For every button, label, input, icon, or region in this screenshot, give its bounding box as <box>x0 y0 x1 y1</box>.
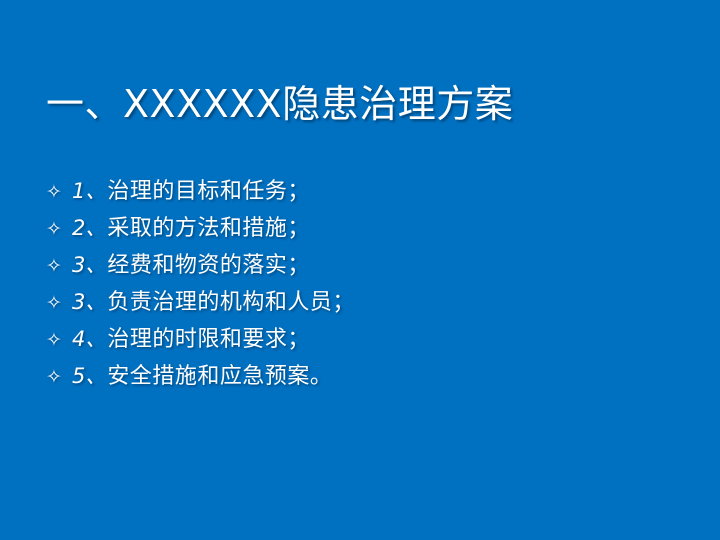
list-item-number: 5、 <box>72 358 107 395</box>
diamond-star-icon: ✧ <box>46 174 72 211</box>
list-item: ✧ 3、 负责治理的机构和人员； <box>46 283 686 320</box>
list-item: ✧ 2、 采取的方法和措施； <box>46 209 686 246</box>
diamond-star-icon: ✧ <box>46 359 72 396</box>
diamond-star-icon: ✧ <box>46 248 72 285</box>
list-item-label: 治理的目标和任务； <box>107 172 310 209</box>
list-item-label: 经费和物资的落实； <box>107 246 310 283</box>
slide-title: 一、XXXXXX隐患治理方案 <box>46 83 686 127</box>
diamond-star-icon: ✧ <box>46 211 72 248</box>
list-item-label: 采取的方法和措施； <box>107 209 310 246</box>
list-item-number: 3、 <box>72 247 107 284</box>
list-item: ✧ 1、 治理的目标和任务； <box>46 172 686 209</box>
bullet-list: ✧ 1、 治理的目标和任务； ✧ 2、 采取的方法和措施； ✧ 3、 经费和物资… <box>46 172 686 394</box>
list-item-number: 3、 <box>72 284 107 321</box>
list-item-label: 安全措施和应急预案。 <box>107 357 332 394</box>
list-item: ✧ 3、 经费和物资的落实； <box>46 246 686 283</box>
presentation-slide: 一、XXXXXX隐患治理方案 ✧ 1、 治理的目标和任务； ✧ 2、 采取的方法… <box>0 0 720 540</box>
list-item-number: 1、 <box>72 173 107 210</box>
list-item: ✧ 4、 治理的时限和要求； <box>46 320 686 357</box>
list-item-label: 负责治理的机构和人员； <box>107 283 355 320</box>
diamond-star-icon: ✧ <box>46 322 72 359</box>
list-item-label: 治理的时限和要求； <box>107 320 310 357</box>
diamond-star-icon: ✧ <box>46 285 72 322</box>
list-item-number: 4、 <box>72 321 107 358</box>
list-item: ✧ 5、 安全措施和应急预案。 <box>46 357 686 394</box>
list-item-number: 2、 <box>72 210 107 247</box>
